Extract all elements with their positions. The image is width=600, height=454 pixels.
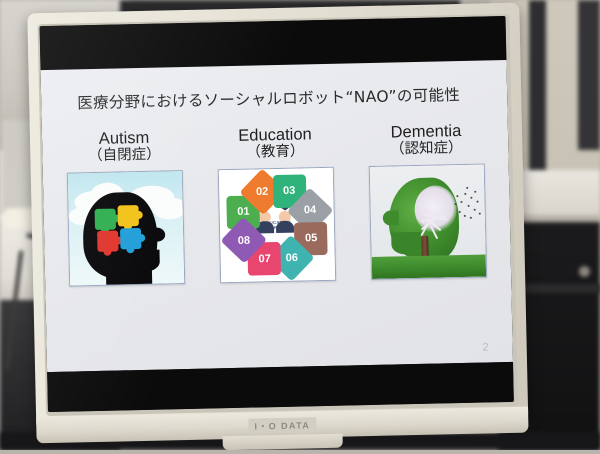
screenshot-root: 医療分野におけるソーシャルロボット“NAO”の可能性 Autism （自閉症） [0,0,600,450]
background-wall-strip-2 [578,0,600,150]
column-heading-en: Autism [99,130,150,148]
wheel-segment-number: 06 [285,252,298,264]
slide-columns: Autism （自閉症） [58,122,496,341]
column-heading-ja: （自閉症） [88,148,161,166]
tree-canopy-nose [383,211,399,226]
education-infographic-wheel-image: EDUCATION INFOGRAPHICS 0102030405060708 [218,167,336,284]
tree-canopy-chin [391,232,421,255]
wheel-segment-number: 01 [237,206,250,218]
puzzle-piece-green-icon [95,209,116,230]
wheel-segment-number: 08 [238,234,251,246]
column-heading-en: Education [238,126,312,145]
wheel-segment-number: 03 [284,186,297,198]
cloud-icon [152,197,185,220]
presentation-slide: 医療分野におけるソーシャルロボット“NAO”の可能性 Autism （自閉症） [41,60,513,372]
monitor-stand [223,434,343,451]
monitor-screen: 医療分野におけるソーシャルロボット“NAO”の可能性 Autism （自閉症） [40,16,514,412]
grass-field [372,255,486,279]
monitor-brand-logo: I・O DATA [248,417,316,433]
puzzle-piece-blue-icon [120,228,141,249]
slide-column-dementia: Dementia （認知症） [360,122,497,335]
wheel-segment-number: 04 [304,205,317,217]
graduate-body-icon [276,221,294,233]
wheel-segment-number: 05 [304,232,317,244]
dementia-tree-head-image [369,164,487,281]
wheel-segment-number: 02 [256,186,269,198]
monitor-case: 医療分野におけるソーシャルロボット“NAO”の可能性 Autism （自閉症） [27,3,528,430]
wheel-segment-number: 07 [258,253,271,265]
column-heading-ja: （認知症） [390,141,463,159]
monitor: 医療分野におけるソーシャルロボット“NAO”の可能性 Autism （自閉症） [27,3,528,451]
puzzle-piece-red-icon [97,231,118,252]
slide-page-number: 2 [482,341,488,353]
head-neck [106,264,152,287]
background-wall-strip-1 [529,0,546,175]
column-heading-ja: （教育） [246,145,304,162]
puzzle-piece-yellow-icon [118,205,139,226]
slide-column-autism: Autism （自閉症） [58,129,195,342]
slide-title: 医療分野におけるソーシャルロボット“NAO”の可能性 [77,83,477,114]
infographic-wheel: EDUCATION INFOGRAPHICS 0102030405060708 [222,170,332,280]
background-knob [579,266,590,277]
column-heading-en: Dementia [390,123,461,142]
autism-puzzle-head-image [67,170,185,287]
slide-column-education: Education （教育） EDUCATION INFOGRAPHICS [209,126,346,339]
